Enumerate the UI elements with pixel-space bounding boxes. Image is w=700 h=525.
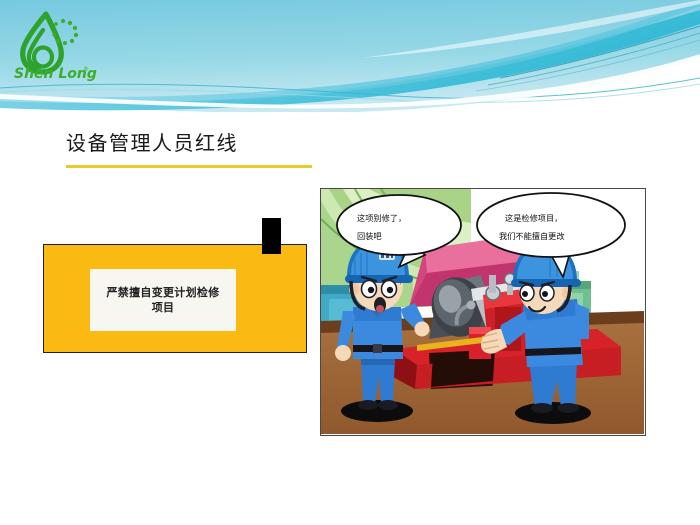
bubble-right-line-1: 这是检修项目， xyxy=(505,213,562,223)
bubble-right-line-2: 我们不能擅自更改 xyxy=(499,231,565,241)
bubble-left-line-2: 回装吧 xyxy=(357,231,382,241)
callout-line-1: 严禁擅自变更计划检修 xyxy=(107,286,220,299)
page-title: 设备管理人员红线 xyxy=(66,130,366,156)
callout-inner-panel: 严禁擅自变更计划检修 项目 xyxy=(90,269,236,331)
slide-canvas: Shen Long ® 设备管理人员红线 严禁擅自变更计划检修 项目 xyxy=(0,0,700,525)
title-underline xyxy=(66,165,312,168)
registered-mark-icon: ® xyxy=(83,66,89,73)
callout-yellow-box: 严禁擅自变更计划检修 项目 xyxy=(43,244,307,353)
callout-inner-text: 严禁擅自变更计划检修 项目 xyxy=(101,285,226,315)
decorative-wave-banner xyxy=(0,0,700,112)
red-line-callout: 严禁擅自变更计划检修 项目 xyxy=(43,218,309,358)
page-title-block: 设备管理人员红线 xyxy=(66,130,366,156)
bubble-left-line-1: 这项别修了， xyxy=(357,213,406,223)
callout-line-2: 项目 xyxy=(152,301,175,314)
workers-maintenance-illustration: 这项别修了， 回装吧 这是检修项目， 我们不能擅自更改 xyxy=(320,188,646,436)
shen-long-logo: Shen Long ® xyxy=(10,8,102,84)
callout-black-tab xyxy=(262,218,281,254)
